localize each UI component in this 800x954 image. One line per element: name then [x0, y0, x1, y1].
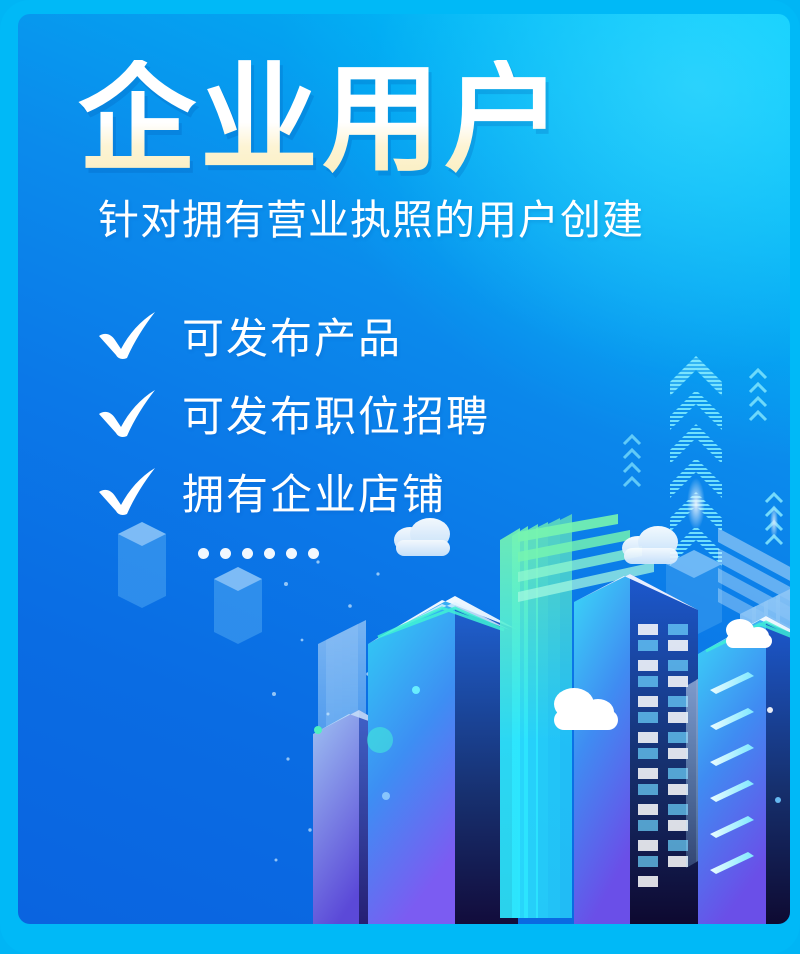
feature-label: 拥有企业店铺	[182, 461, 446, 522]
feature-label: 可发布职位招聘	[182, 383, 490, 444]
page-subtitle: 针对拥有营业执照的用户创建	[98, 186, 750, 246]
promo-panel: 企业用户 针对拥有营业执照的用户创建 可发布产品 可发布职位招聘	[18, 14, 790, 924]
check-icon	[96, 387, 160, 439]
tower-tall-left	[367, 596, 518, 924]
tower-bars-right	[698, 616, 790, 924]
dot	[286, 548, 297, 559]
dot	[264, 548, 275, 559]
feature-item-2: 拥有企业店铺	[96, 452, 750, 530]
feature-label: 可发布产品	[182, 305, 402, 366]
dot	[220, 548, 231, 559]
chevron-group-right-top	[750, 370, 766, 420]
promo-card: 企业用户 针对拥有营业执照的用户创建 可发布产品 可发布职位招聘	[0, 0, 800, 954]
feature-item-1: 可发布职位招聘	[96, 374, 750, 452]
feature-list: 可发布产品 可发布职位招聘 拥有企业店铺	[96, 296, 750, 530]
promo-text-block: 企业用户 针对拥有营业执照的用户创建 可发布产品 可发布职位招聘	[78, 60, 750, 559]
feature-item-0: 可发布产品	[96, 296, 750, 374]
dot	[308, 548, 319, 559]
check-icon	[96, 309, 160, 361]
check-icon	[96, 465, 160, 517]
page-title: 企业用户	[78, 60, 750, 180]
dot	[198, 548, 209, 559]
isometric-city-skyline	[18, 504, 790, 924]
dot	[242, 548, 253, 559]
tower-center-grid	[574, 574, 698, 924]
more-dots	[198, 548, 750, 559]
